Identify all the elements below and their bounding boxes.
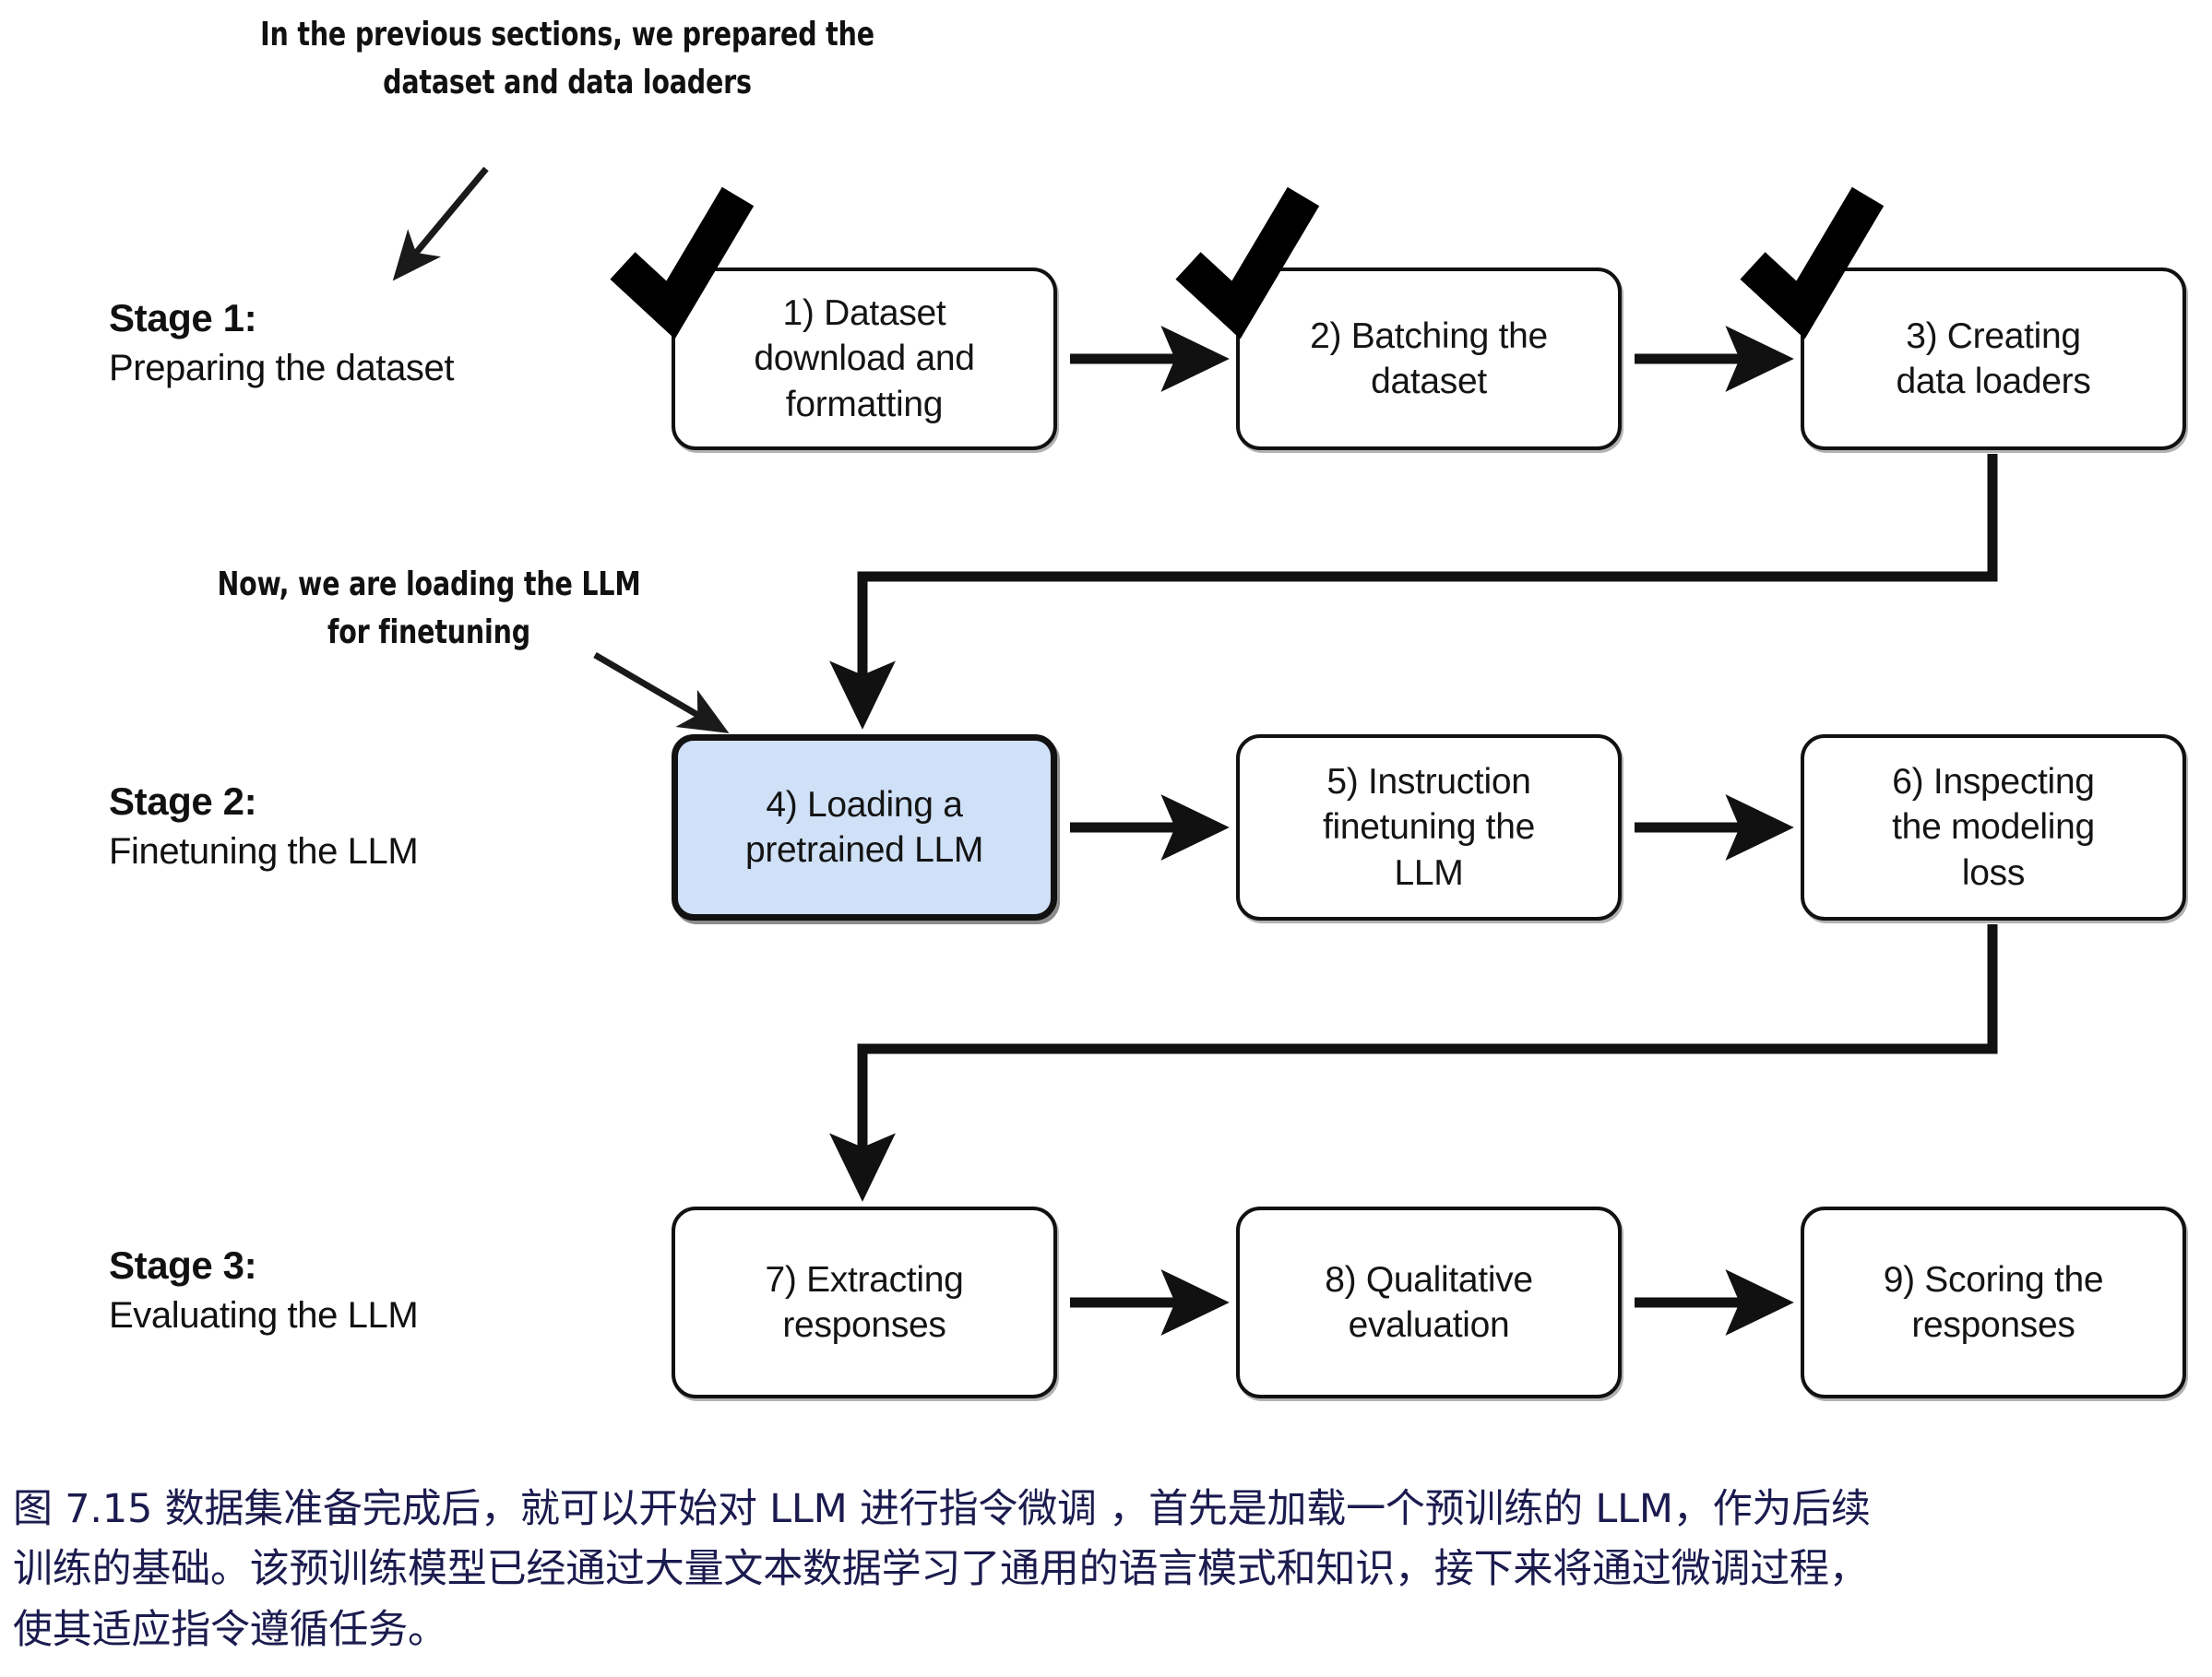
flow-box-extracting-responses[interactable]: 7) Extracting responses bbox=[672, 1207, 1057, 1398]
stage-3-subtitle: Evaluating the LLM bbox=[109, 1291, 662, 1339]
connector-box6-to-box7 bbox=[862, 924, 1992, 1190]
flow-box-creating-data-loaders[interactable]: 3) Creating data loaders bbox=[1801, 268, 2186, 450]
flow-box-batching-the-dataset[interactable]: 2) Batching the dataset bbox=[1236, 268, 1622, 450]
note-1-arrow bbox=[398, 169, 486, 274]
stage-3-title: Stage 3: bbox=[109, 1241, 662, 1291]
stage-label-3: Stage 3: Evaluating the LLM bbox=[109, 1241, 662, 1339]
stage-1-subtitle: Preparing the dataset bbox=[109, 344, 662, 392]
figure-canvas: In the previous sections, we prepared th… bbox=[0, 0, 2212, 1677]
flow-box-loading-a-pretrained-llm[interactable]: 4) Loading a pretrained LLM bbox=[672, 734, 1057, 921]
flow-box-qualitative-evaluation[interactable]: 8) Qualitative evaluation bbox=[1236, 1207, 1622, 1398]
caption-line-1: 图 7.15 数据集准备完成后，就可以开始对 LLM 进行指令微调 ，首先是加载… bbox=[13, 1480, 2208, 1540]
stage-2-title: Stage 2: bbox=[109, 777, 662, 827]
stage-2-subtitle: Finetuning the LLM bbox=[109, 827, 662, 875]
flow-box-inspecting-the-modeling-loss[interactable]: 6) Inspecting the modeling loss bbox=[1801, 734, 2186, 921]
stage-label-1: Stage 1: Preparing the dataset bbox=[109, 293, 662, 392]
annotation-note-loading-llm: Now, we are loading the LLM for finetuni… bbox=[177, 561, 681, 657]
connector-box3-to-box4 bbox=[862, 454, 1992, 718]
flow-box-instruction-finetuning-the-llm[interactable]: 5) Instruction finetuning the LLM bbox=[1236, 734, 1622, 921]
annotation-note-dataset-prepared: In the previous sections, we prepared th… bbox=[243, 11, 892, 107]
note-2-arrow bbox=[595, 655, 721, 729]
stage-label-2: Stage 2: Finetuning the LLM bbox=[109, 777, 662, 875]
flow-box-dataset-download-and-formatting[interactable]: 1) Dataset download and formatting bbox=[672, 268, 1057, 450]
caption-line-2: 训练的基础。该预训练模型已经通过大量文本数据学习了通用的语言模式和知识，接下来将… bbox=[13, 1540, 2208, 1600]
stage-1-title: Stage 1: bbox=[109, 293, 662, 344]
flow-box-scoring-the-responses[interactable]: 9) Scoring the responses bbox=[1801, 1207, 2186, 1398]
caption-line-3: 使其适应指令遵循任务。 bbox=[13, 1600, 2208, 1660]
figure-caption: 图 7.15 数据集准备完成后，就可以开始对 LLM 进行指令微调 ，首先是加载… bbox=[13, 1480, 2208, 1660]
